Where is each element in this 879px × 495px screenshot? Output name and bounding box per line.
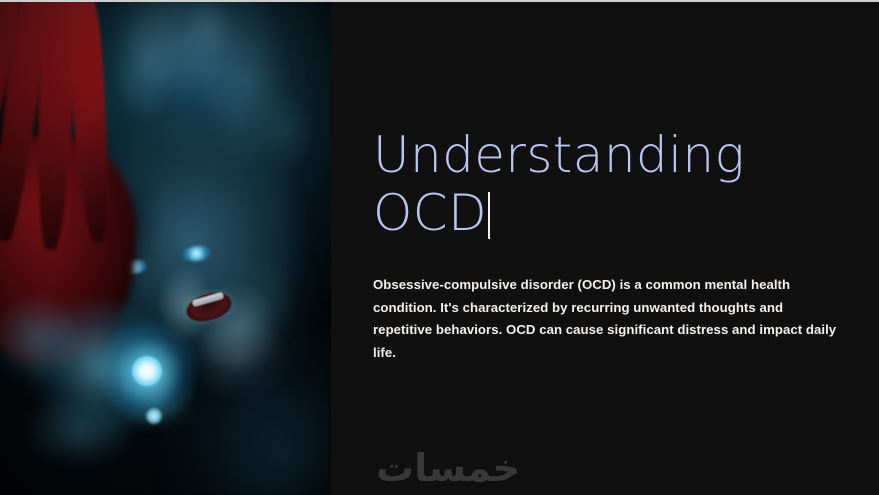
- slide-body-paragraph[interactable]: Obsessive-compulsive disorder (OCD) is a…: [373, 274, 841, 364]
- slide-content-area: UnderstandingOCD Obsessive-compulsive di…: [331, 2, 879, 495]
- image-vignette-layer: [0, 2, 331, 495]
- presentation-slide: UnderstandingOCD Obsessive-compulsive di…: [0, 0, 879, 495]
- slide-hero-image: [0, 2, 331, 495]
- text-cursor-caret: [488, 192, 490, 239]
- slide-title-line-2: OCD: [373, 184, 487, 242]
- slide-title[interactable]: UnderstandingOCD: [373, 126, 803, 242]
- slide-title-line-1: Understanding: [373, 126, 745, 184]
- khamsat-watermark: خمسات: [376, 449, 520, 487]
